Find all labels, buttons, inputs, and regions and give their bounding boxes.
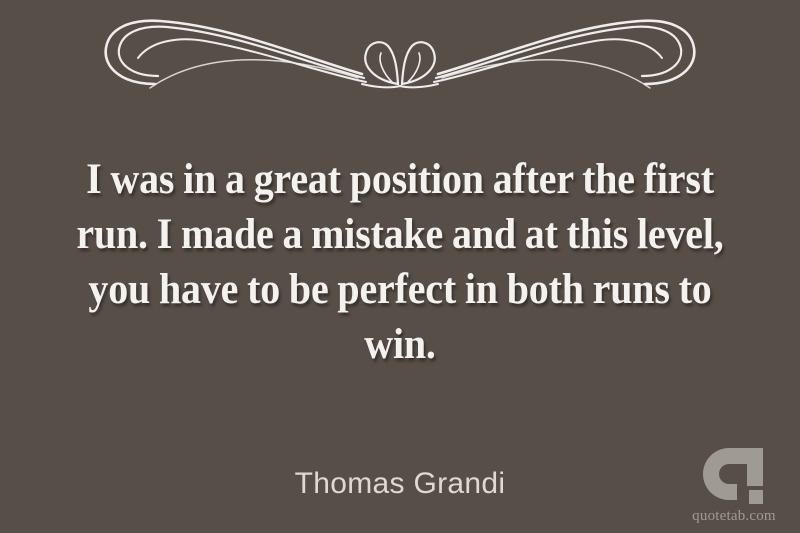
watermark[interactable]: quotetab.com bbox=[682, 446, 786, 525]
author-name: Thomas Grandi bbox=[295, 466, 506, 502]
watermark-site: quotetab.com bbox=[682, 507, 786, 525]
quotetab-q-logo-icon bbox=[703, 446, 765, 508]
quote-card: I was in a great position after the firs… bbox=[0, 0, 800, 533]
quote-author: Thomas Grandi bbox=[0, 466, 800, 502]
quote-text: I was in a great position after the firs… bbox=[67, 152, 733, 372]
quote-block: I was in a great position after the firs… bbox=[42, 152, 758, 372]
flourish-divider-icon bbox=[0, 8, 800, 100]
